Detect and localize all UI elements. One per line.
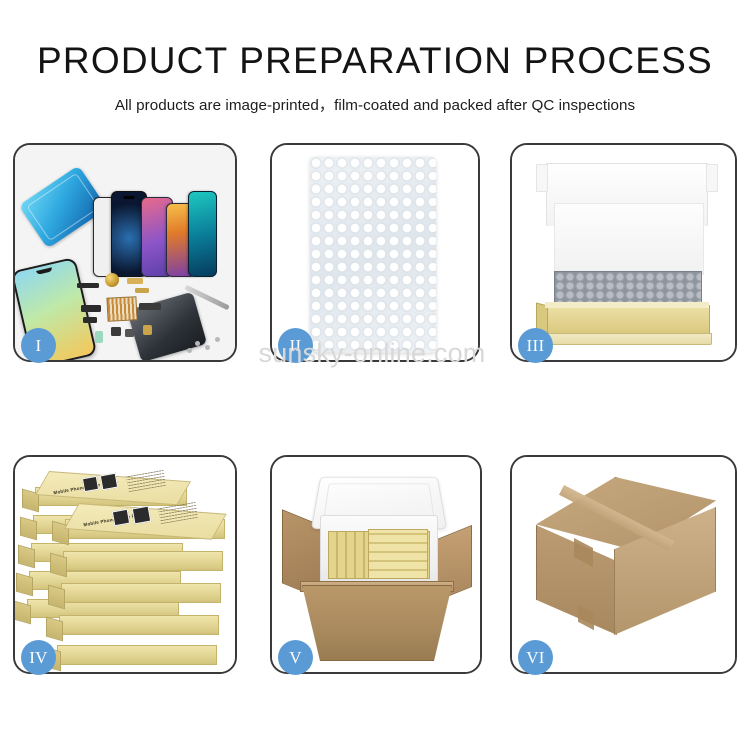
screw-icon [187,348,192,353]
box-label-image-icon [100,473,118,491]
process-step-panel-5[interactable]: V [270,455,482,674]
box-label-image-icon [112,509,130,527]
spare-part-icon [135,288,149,293]
screw-icon [215,337,220,342]
foam-sheet-icon [554,203,704,275]
step-badge-2: II [278,328,313,363]
step-3-image [512,145,735,360]
inner-yellow-boxes-icon [368,529,428,579]
spare-part-icon [143,325,152,335]
phone-backplate-icon [127,292,207,360]
step-4-image: Mobile Phone Spare Parts Mobile Phone Sp… [15,457,235,672]
step-1-image [15,145,235,360]
screw-icon [195,341,200,346]
step-5-image [272,457,480,672]
spare-part-icon [95,331,103,343]
box-label-image-icon [132,506,152,525]
stacked-box [61,583,221,603]
step-badge-1: I [21,328,56,363]
spare-part-icon [139,303,161,310]
process-step-panel-3[interactable]: III [510,143,737,362]
spare-part-icon [81,305,101,312]
process-step-panel-6[interactable]: VI [510,455,737,674]
phone-teal-screen-icon [188,191,217,277]
stacked-box [59,615,219,635]
page-title: PRODUCT PREPARATION PROCESS [0,0,750,81]
stacked-box [57,645,217,665]
bubble-wrap-icon [310,157,436,353]
screw-icon [205,345,210,350]
step-badge-3: III [518,328,553,363]
spare-part-icon [125,329,134,337]
chip-array-icon [106,296,137,322]
box-stack-group: Mobile Phone Spare Parts Mobile Phone Sp… [23,467,227,667]
phone-fan-group [89,167,235,277]
page-subtitle: All products are image-printed，film-coat… [0,81,750,115]
spare-part-icon [83,317,97,323]
round-component-icon [105,273,119,287]
spare-part-icon [77,283,99,288]
process-step-panel-1[interactable]: I [13,143,237,362]
box-lip-icon [542,333,712,345]
step-6-image [512,457,735,672]
spare-part-icon [111,327,121,336]
page-header: PRODUCT PREPARATION PROCESS All products… [0,0,750,115]
carton-body-icon [302,585,452,661]
step-badge-6: VI [518,640,553,675]
process-step-panel-4[interactable]: Mobile Phone Spare Parts Mobile Phone Sp… [13,455,237,674]
box-label-image-icon [82,476,99,492]
step-badge-5: V [278,640,313,675]
step-2-image [272,145,478,360]
stacked-box [63,551,223,571]
step-badge-4: IV [21,640,56,675]
process-step-grid: I II III [13,143,737,675]
process-step-panel-2[interactable]: II [270,143,480,362]
spare-part-icon [127,278,143,284]
